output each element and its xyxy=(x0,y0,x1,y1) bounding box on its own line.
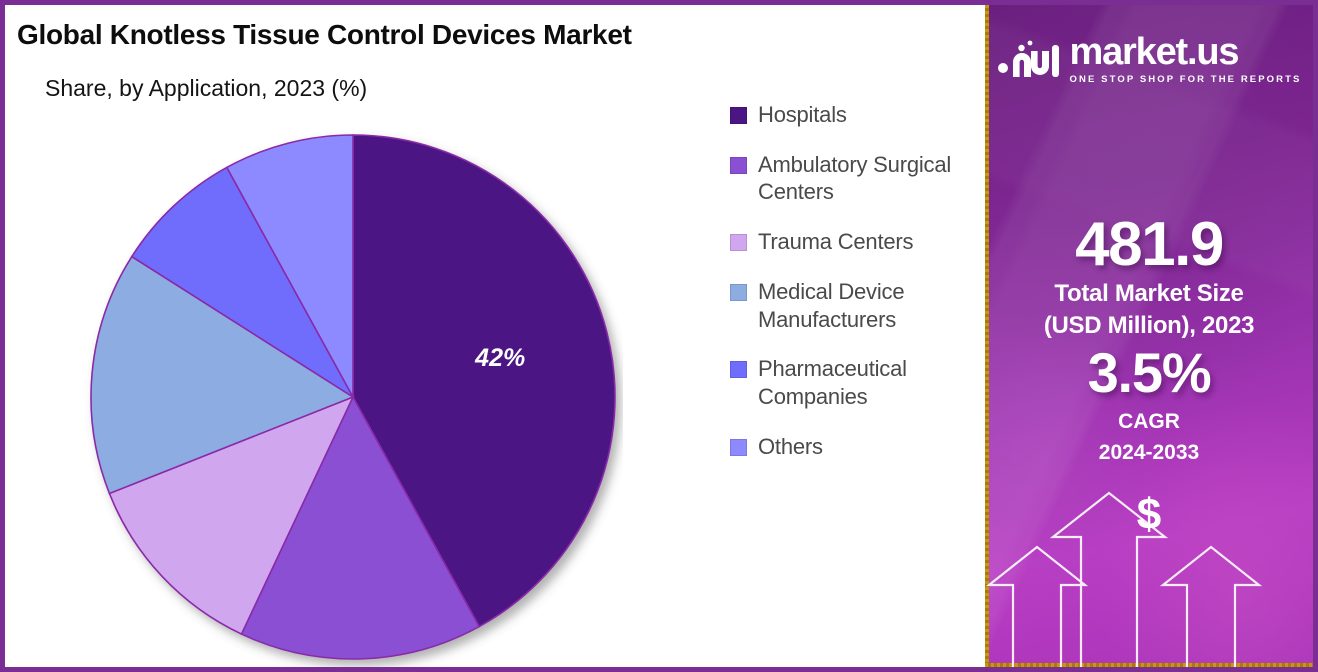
legend-swatch-hospitals xyxy=(730,107,747,124)
legend-label-pharmaceutical-companies: Pharmaceutical Companies xyxy=(758,355,988,410)
brand-sidebar: market.us ONE STOP SHOP FOR THE REPORTS … xyxy=(985,5,1313,667)
pie-chart: 42% xyxy=(83,127,623,667)
up-arrow-left-icon xyxy=(989,547,1085,667)
growth-arrows-graphic: $ xyxy=(985,487,1313,667)
market-size-caption-line1: Total Market Size xyxy=(985,280,1313,308)
pie-slice-label-hospitals: 42% xyxy=(474,344,525,372)
legend-swatch-trauma-centers xyxy=(730,234,747,251)
legend-swatch-others xyxy=(730,439,747,456)
legend-item-others[interactable]: Others xyxy=(730,433,988,461)
chart-subtitle: Share, by Application, 2023 (%) xyxy=(45,75,367,102)
logo-tagline: ONE STOP SHOP FOR THE REPORTS xyxy=(1070,74,1302,85)
legend-item-trauma-centers[interactable]: Trauma Centers xyxy=(730,228,988,256)
infographic-root: Global Knotless Tissue Control Devices M… xyxy=(0,0,1318,672)
frame-border-bottom xyxy=(0,667,1318,672)
legend-label-hospitals: Hospitals xyxy=(758,101,847,129)
legend-swatch-pharmaceutical-companies xyxy=(730,361,747,378)
brand-logo: market.us ONE STOP SHOP FOR THE REPORTS xyxy=(985,33,1313,85)
page-title: Global Knotless Tissue Control Devices M… xyxy=(17,19,632,51)
logo-wordmark: market.us xyxy=(1070,33,1302,71)
market-us-logo-icon xyxy=(997,37,1061,82)
up-arrow-right-icon xyxy=(1163,547,1259,667)
sidebar-content: market.us ONE STOP SHOP FOR THE REPORTS … xyxy=(985,5,1313,667)
legend-label-medical-device-manufacturers: Medical Device Manufacturers xyxy=(758,278,988,333)
legend-label-others: Others xyxy=(758,433,823,461)
pie-slices-group xyxy=(91,135,615,659)
legend-label-ambulatory-surgical-centers: Ambulatory Surgical Centers xyxy=(758,151,988,206)
legend-swatch-ambulatory-surgical-centers xyxy=(730,157,747,174)
dollar-sign-icon: $ xyxy=(985,493,1313,537)
pie-chart-svg: 42% xyxy=(83,127,623,667)
frame-border-top xyxy=(0,0,1318,5)
legend-item-medical-device-manufacturers[interactable]: Medical Device Manufacturers xyxy=(730,278,988,333)
chart-legend: Hospitals Ambulatory Surgical Centers Tr… xyxy=(730,101,988,482)
frame-border-right xyxy=(1313,0,1318,672)
cagr-label: CAGR xyxy=(985,409,1313,434)
legend-swatch-medical-device-manufacturers xyxy=(730,284,747,301)
market-size-value: 481.9 xyxy=(985,213,1313,276)
frame-border-left xyxy=(0,0,5,672)
legend-item-pharmaceutical-companies[interactable]: Pharmaceutical Companies xyxy=(730,355,988,410)
legend-item-hospitals[interactable]: Hospitals xyxy=(730,101,988,129)
cagr-period: 2024-2033 xyxy=(985,440,1313,465)
cagr-value: 3.5% xyxy=(985,344,1313,403)
legend-label-trauma-centers: Trauma Centers xyxy=(758,228,913,256)
legend-item-ambulatory-surgical-centers[interactable]: Ambulatory Surgical Centers xyxy=(730,151,988,206)
logo-text-block: market.us ONE STOP SHOP FOR THE REPORTS xyxy=(1070,33,1302,85)
sidebar-stats: 481.9 Total Market Size (USD Million), 2… xyxy=(985,213,1313,466)
market-size-caption-line2: (USD Million), 2023 xyxy=(985,312,1313,340)
chart-panel: Global Knotless Tissue Control Devices M… xyxy=(5,5,990,667)
